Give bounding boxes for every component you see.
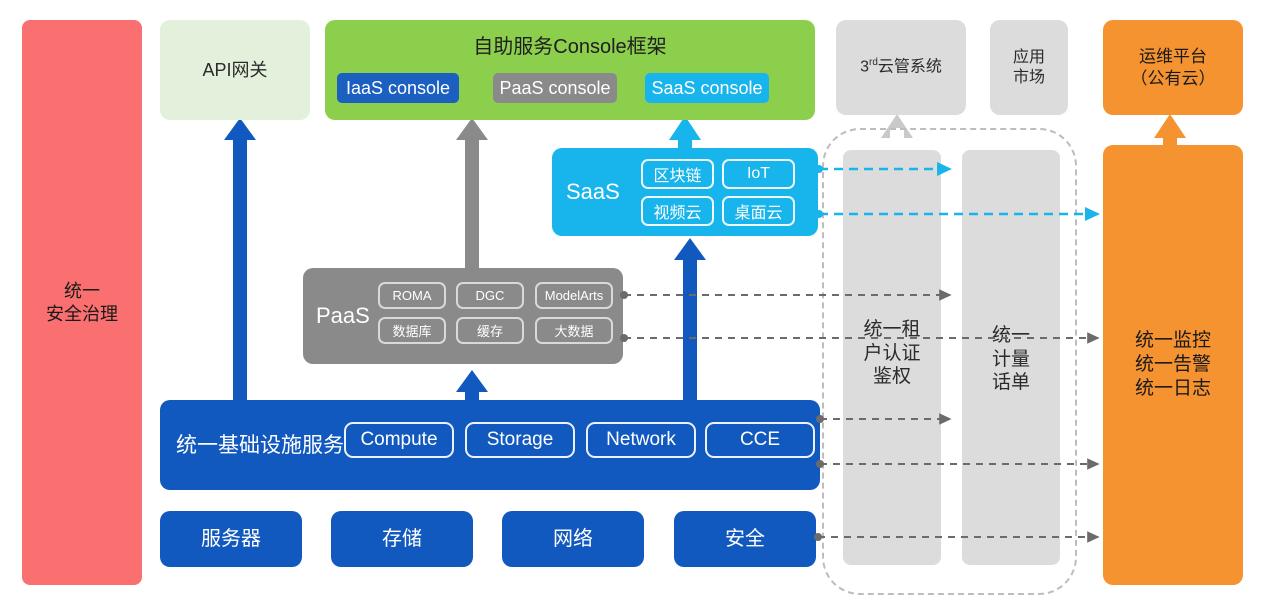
ops-platform-line1: 运维平台 [1131, 46, 1216, 67]
app-market-line1: 应用 [1013, 48, 1045, 68]
saas-console-label: SaaS console [651, 78, 762, 99]
paas-console-label: PaaS console [499, 78, 610, 99]
api-gateway-panel[interactable]: API网关 [160, 20, 310, 120]
hardware-tile-network[interactable]: 网络 [502, 511, 644, 567]
app-market-panel[interactable]: 应用 市场 [990, 20, 1068, 115]
console-framework-title: 自助服务Console框架 [325, 30, 815, 59]
arrow-infra-to-apigw [224, 118, 256, 400]
security-governance-panel: 统一 安全治理 [22, 20, 142, 585]
saas-tile-blockchain[interactable]: 区块链 [641, 159, 714, 189]
saas-tile-desktop-cloud[interactable]: 桌面云 [722, 196, 795, 226]
saas-tile-iot[interactable]: IoT [722, 159, 795, 189]
ops-platform-line2: （公有云） [1131, 68, 1216, 89]
infra-tile-storage[interactable]: Storage [465, 422, 575, 458]
paas-console-chip[interactable]: PaaS console [493, 73, 617, 103]
arrow-infra-to-saas [674, 238, 706, 400]
paas-tile-database[interactable]: 数据库 [378, 317, 446, 344]
hardware-tile-server[interactable]: 服务器 [160, 511, 302, 567]
infra-tile-network[interactable]: Network [586, 422, 696, 458]
saas-console-chip[interactable]: SaaS console [645, 73, 769, 103]
third-party-cloud-mgmt-panel[interactable]: 3rd云管系统 [836, 20, 966, 115]
ops-center-line2: 统一告警 [1135, 353, 1211, 377]
saas-tile-video-cloud[interactable]: 视频云 [641, 196, 714, 226]
hardware-tile-storage[interactable]: 存储 [331, 511, 473, 567]
architecture-diagram: 统一 安全治理 API网关 自助服务Console框架 IaaS console… [0, 0, 1265, 605]
unified-infrastructure-label: 统一基础设施服务 [176, 429, 344, 459]
arrow-infra-to-paas [456, 370, 488, 400]
saas-label: SaaS [566, 179, 620, 205]
hardware-tile-security[interactable]: 安全 [674, 511, 816, 567]
iaas-console-chip[interactable]: IaaS console [337, 73, 459, 103]
paas-tile-dgc[interactable]: DGC [456, 282, 524, 309]
paas-tile-bigdata[interactable]: 大数据 [535, 317, 613, 344]
arrow-saas-to-console [669, 116, 701, 150]
security-governance-line1: 统一 [46, 280, 118, 303]
security-governance-line2: 安全治理 [46, 303, 118, 326]
infra-tile-compute[interactable]: Compute [344, 422, 454, 458]
arrow-paas-to-console [456, 118, 488, 272]
paas-tile-modelarts[interactable]: ModelArts [535, 282, 613, 309]
api-gateway-label: API网关 [202, 59, 267, 82]
shared-services-dashed-container [822, 128, 1077, 595]
ops-platform-panel[interactable]: 运维平台 （公有云） [1103, 20, 1243, 115]
paas-tile-roma[interactable]: ROMA [378, 282, 446, 309]
paas-label: PaaS [316, 303, 370, 329]
app-market-line2: 市场 [1013, 68, 1045, 88]
iaas-console-label: IaaS console [346, 78, 450, 99]
third-party-label: 3rd云管系统 [860, 57, 942, 77]
third-party-sup: rd [869, 57, 878, 68]
paas-tile-cache[interactable]: 缓存 [456, 317, 524, 344]
ops-center-panel: 统一监控 统一告警 统一日志 [1103, 145, 1243, 585]
infra-tile-cce[interactable]: CCE [705, 422, 815, 458]
arrow-opscenter-to-opsplatform [1154, 114, 1186, 148]
ops-center-line1: 统一监控 [1135, 329, 1211, 353]
ops-center-line3: 统一日志 [1135, 377, 1211, 401]
